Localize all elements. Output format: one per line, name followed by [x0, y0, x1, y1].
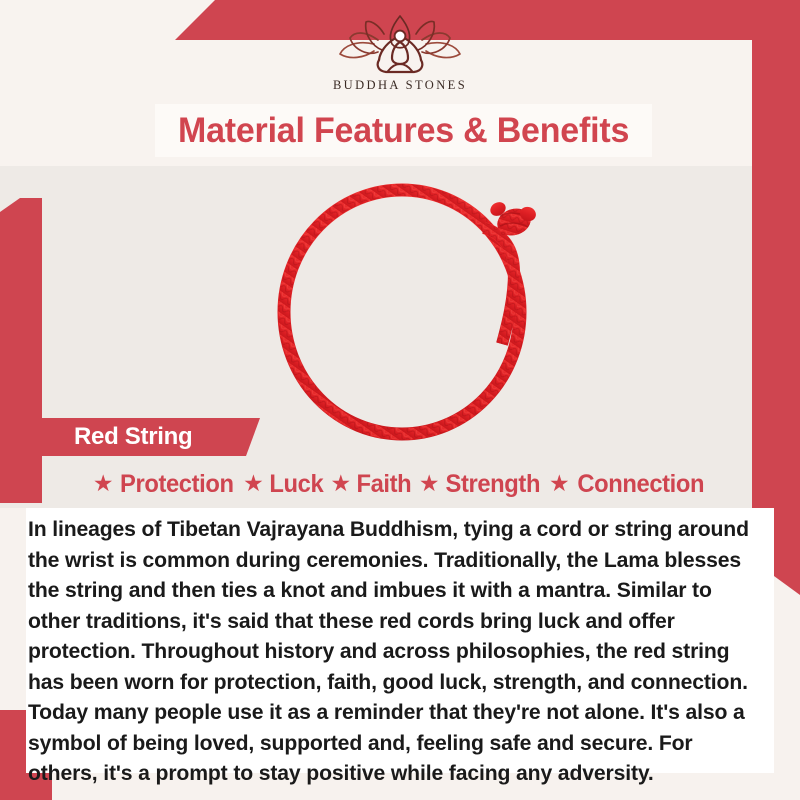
benefit-label: Luck: [269, 470, 323, 499]
benefit-label: Strength: [446, 470, 541, 499]
page-title: Material Features & Benefits: [178, 111, 629, 151]
benefit-item-strength: ★ Strength: [419, 470, 543, 499]
section-ribbon-label: Red String: [74, 423, 192, 451]
benefit-item-faith: ★ Faith: [330, 470, 412, 499]
benefit-item-luck: ★ Luck: [243, 470, 324, 499]
page-title-box: Material Features & Benefits: [155, 104, 652, 157]
description-text: In lineages of Tibetan Vajrayana Buddhis…: [26, 514, 767, 789]
star-icon: ★: [419, 472, 440, 495]
description-panel: In lineages of Tibetan Vajrayana Buddhis…: [26, 508, 774, 773]
benefit-label: Protection: [120, 470, 234, 499]
star-icon: ★: [549, 472, 570, 495]
brand-name: BUDDHA STONES: [333, 78, 467, 93]
benefits-row: ★ Protection ★ Luck ★ Faith ★ Strength ★…: [0, 464, 800, 504]
star-icon: ★: [93, 472, 114, 495]
brand-logo: BUDDHA STONES: [0, 14, 800, 93]
section-ribbon: Red String: [22, 418, 260, 456]
star-icon: ★: [330, 472, 351, 495]
left-red-bar: [0, 198, 42, 503]
red-string-bracelet-image: [252, 172, 564, 444]
benefit-label: Faith: [357, 470, 412, 499]
lotus-meditation-figure-icon: [334, 14, 466, 76]
star-icon: ★: [243, 472, 264, 495]
benefit-item-protection: ★ Protection: [93, 470, 237, 499]
benefit-item-connection: ★ Connection: [549, 470, 707, 499]
benefit-label: Connection: [577, 470, 704, 499]
infographic-page: BUDDHA STONES Material Features & Benefi…: [0, 0, 800, 800]
